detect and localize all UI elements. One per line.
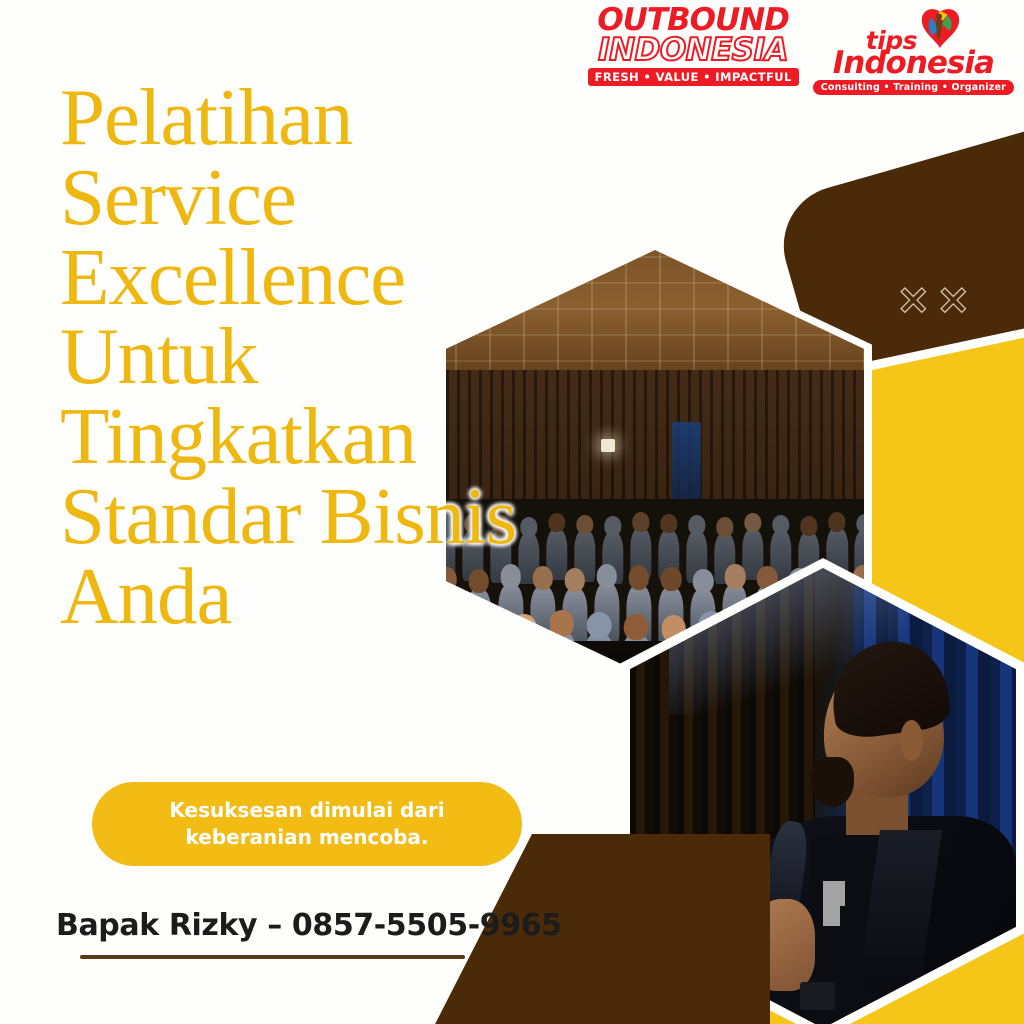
page-title: Pelatihan Service Excellence Untuk Tingk… xyxy=(60,78,700,636)
headline-line-3: Excellence xyxy=(60,238,700,318)
headline-line-1: Pelatihan xyxy=(60,78,700,158)
outbound-logo-line1: OUTBOUND xyxy=(597,6,789,35)
contact-underline xyxy=(80,955,465,959)
poster-canvas: OUTBOUND INDONESIA FRESH • VALUE • IMPAC… xyxy=(0,0,1024,1024)
outbound-logo-line2: INDONESIA xyxy=(598,35,788,66)
quote-text: Kesuksesan dimulai dari keberanian menco… xyxy=(92,797,522,851)
tips-figure-icon xyxy=(919,6,961,50)
contact-block: Bapak Rizky – 0857-5505-9965 xyxy=(56,908,562,959)
tips-logo-line2: Indonesia xyxy=(833,49,994,78)
headline-line-4: Untuk xyxy=(60,317,700,397)
headline-line-6: Standar Bisnis xyxy=(60,477,700,557)
contact-phone: Bapak Rizky – 0857-5505-9965 xyxy=(56,908,562,943)
headline-line-2: Service xyxy=(60,158,700,238)
headline-line-5: Tingkatkan xyxy=(60,397,700,477)
tips-indonesia-logo: tips Indonesia Consulting • Training • O… xyxy=(813,6,1014,95)
quote-badge: Kesuksesan dimulai dari keberanian menco… xyxy=(92,782,522,866)
headline-line-7: Anda xyxy=(60,557,700,637)
outbound-indonesia-logo: OUTBOUND INDONESIA FRESH • VALUE • IMPAC… xyxy=(588,6,799,86)
tips-logo-tagline: Consulting • Training • Organizer xyxy=(813,80,1014,95)
